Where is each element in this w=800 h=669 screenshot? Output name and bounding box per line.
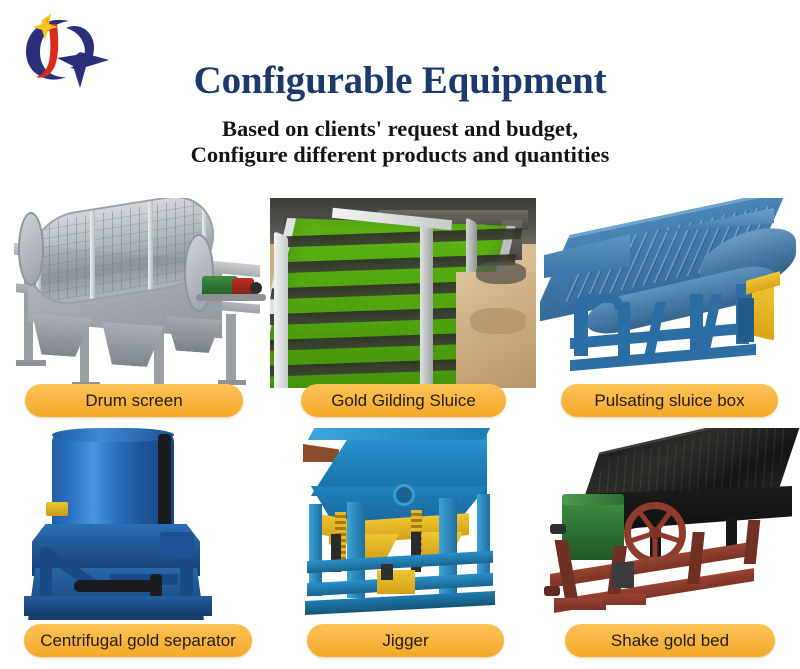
equipment-poster: Configurable Equipment Based on clients'… bbox=[0, 0, 800, 669]
product-card-centrifugal-gold-separator[interactable]: Centrifugal gold separator bbox=[10, 428, 260, 628]
product-card-pulsating-sluice-box[interactable]: Pulsating sluice box bbox=[540, 198, 800, 388]
product-label-pulsating-sluice-box[interactable]: Pulsating sluice box bbox=[561, 384, 778, 417]
centrifugal-gold-separator-image bbox=[10, 428, 260, 628]
product-label-shake-gold-bed[interactable]: Shake gold bed bbox=[565, 624, 775, 657]
gold-gilding-sluice-image bbox=[270, 198, 536, 388]
pulsating-sluice-box-image bbox=[540, 198, 800, 388]
product-card-shake-gold-bed[interactable]: Shake gold bed bbox=[540, 428, 800, 628]
shake-gold-bed-image bbox=[540, 428, 800, 628]
product-label-gold-gilding-sluice[interactable]: Gold Gilding Sluice bbox=[301, 384, 506, 417]
jigger-image bbox=[285, 428, 525, 628]
centrifuge-bowl bbox=[52, 432, 174, 540]
product-card-drum-screen[interactable]: Drum screen bbox=[6, 198, 266, 388]
product-label-drum-screen[interactable]: Drum screen bbox=[25, 384, 243, 417]
product-label-centrifugal-gold-separator[interactable]: Centrifugal gold separator bbox=[24, 624, 252, 657]
subtitle-line-2: Configure different products and quantit… bbox=[0, 142, 800, 168]
page-subtitle: Based on clients' request and budget, Co… bbox=[0, 116, 800, 168]
product-card-jigger[interactable]: Jigger bbox=[285, 428, 525, 628]
drum-screen-image bbox=[6, 198, 266, 388]
subtitle-line-1: Based on clients' request and budget, bbox=[0, 116, 800, 142]
product-card-gold-gilding-sluice[interactable]: Gold Gilding Sluice bbox=[270, 198, 536, 388]
product-label-jigger[interactable]: Jigger bbox=[307, 624, 504, 657]
page-title: Configurable Equipment bbox=[0, 58, 800, 103]
